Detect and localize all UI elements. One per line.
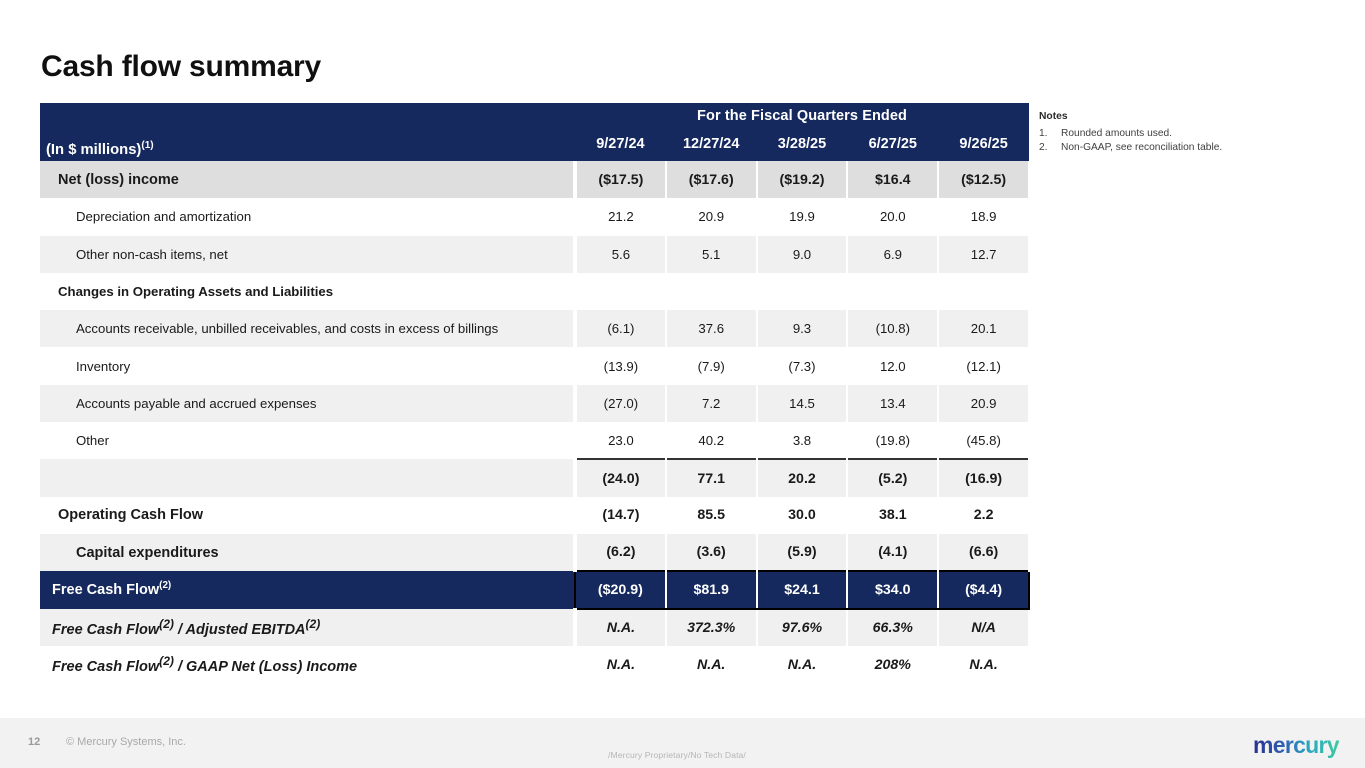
table-row: Accounts payable and accrued expenses(27… (40, 385, 1029, 422)
row-label: Capital expenditures (40, 534, 575, 571)
cash-flow-table: (In $ millions)(1) For the Fiscal Quarte… (40, 103, 1030, 683)
table-cell: 38.1 (847, 497, 938, 534)
table-cell: 97.6% (757, 609, 848, 646)
table-header-group-row: (In $ millions)(1) For the Fiscal Quarte… (40, 103, 1029, 129)
table-cell: 66.3% (847, 609, 938, 646)
table-cell: (12.1) (938, 347, 1029, 384)
table-row: Accounts receivable, unbilled receivable… (40, 310, 1029, 347)
table-row: Free Cash Flow(2) / Adjusted EBITDA(2)N.… (40, 609, 1029, 646)
table-cell: (45.8) (938, 422, 1029, 459)
mercury-logo: mercury (1253, 732, 1339, 759)
column-header-q3: 3/28/25 (757, 129, 848, 161)
table-cell: 23.0 (575, 422, 666, 459)
table-cell: ($20.9) (575, 571, 666, 608)
unit-label-cell: (In $ millions)(1) (40, 103, 575, 161)
table-cell: (5.2) (847, 459, 938, 496)
table-cell: $81.9 (666, 571, 757, 608)
note-index-1: 1. (1039, 127, 1061, 141)
table-cell: 5.1 (666, 236, 757, 273)
table-cell: $16.4 (847, 161, 938, 198)
table-header: (In $ millions)(1) For the Fiscal Quarte… (40, 103, 1029, 161)
table-cell: 85.5 (666, 497, 757, 534)
table-cell: (19.8) (847, 422, 938, 459)
row-label: Changes in Operating Assets and Liabilit… (40, 273, 575, 310)
table-row: Depreciation and amortization21.220.919.… (40, 198, 1029, 235)
note-text-2: Non-GAAP, see reconciliation table. (1061, 141, 1239, 155)
row-label: Operating Cash Flow (40, 497, 575, 534)
table-row: Inventory(13.9)(7.9)(7.3)12.0(12.1) (40, 347, 1029, 384)
row-label: Accounts payable and accrued expenses (40, 385, 575, 422)
table-cell (575, 273, 666, 310)
row-label: Other non-cash items, net (40, 236, 575, 273)
table-cell: (13.9) (575, 347, 666, 384)
column-header-q5: 9/26/25 (938, 129, 1029, 161)
table-row: (24.0)77.120.2(5.2)(16.9) (40, 459, 1029, 496)
table-cell: 13.4 (847, 385, 938, 422)
table-cell: (6.6) (938, 534, 1029, 571)
table-cell: 30.0 (757, 497, 848, 534)
table-row: Changes in Operating Assets and Liabilit… (40, 273, 1029, 310)
fiscal-quarters-header: For the Fiscal Quarters Ended (575, 103, 1029, 129)
table-cell: 9.0 (757, 236, 848, 273)
table-cell: 12.7 (938, 236, 1029, 273)
table-cell: (5.9) (757, 534, 848, 571)
note-text-1: Rounded amounts used. (1061, 127, 1239, 141)
table-row: Other non-cash items, net5.65.19.06.912.… (40, 236, 1029, 273)
row-label-superscript: (2) (159, 580, 171, 591)
table-cell: (7.3) (757, 347, 848, 384)
table-cell: ($17.6) (666, 161, 757, 198)
table-cell: ($12.5) (938, 161, 1029, 198)
proprietary-marking: /Mercury Proprietary/No Tech Data/ (608, 750, 746, 760)
copyright-text: © Mercury Systems, Inc. (66, 736, 186, 748)
column-header-q2: 12/27/24 (666, 129, 757, 161)
table-cell: (24.0) (575, 459, 666, 496)
row-label: Free Cash Flow(2) (40, 571, 575, 608)
table-cell: ($19.2) (757, 161, 848, 198)
table-cell: (7.9) (666, 347, 757, 384)
table-cell: 12.0 (847, 347, 938, 384)
column-header-q4: 6/27/25 (847, 129, 938, 161)
note-item-1: 1. Rounded amounts used. (1039, 127, 1239, 141)
table-cell: 40.2 (666, 422, 757, 459)
table-cell: 3.8 (757, 422, 848, 459)
table-cell: 20.1 (938, 310, 1029, 347)
table-cell: (3.6) (666, 534, 757, 571)
table-cell: 14.5 (757, 385, 848, 422)
table-cell: 37.6 (666, 310, 757, 347)
table-cell: 372.3% (666, 609, 757, 646)
notes-title: Notes (1039, 110, 1239, 125)
row-label: Net (loss) income (40, 161, 575, 198)
table-cell: (6.1) (575, 310, 666, 347)
table-cell: 21.2 (575, 198, 666, 235)
table-cell: 2.2 (938, 497, 1029, 534)
unit-label: (In $ millions) (46, 142, 141, 158)
unit-superscript: (1) (141, 140, 153, 151)
table-row: Net (loss) income($17.5)($17.6)($19.2)$1… (40, 161, 1029, 198)
table-row: Capital expenditures(6.2)(3.6)(5.9)(4.1)… (40, 534, 1029, 571)
table-cell (757, 273, 848, 310)
table-row: Free Cash Flow(2)($20.9)$81.9$24.1$34.0(… (40, 571, 1029, 608)
table-cell: (4.1) (847, 534, 938, 571)
table-cell: N.A. (575, 646, 666, 683)
row-label (40, 459, 575, 496)
table-body: Net (loss) income($17.5)($17.6)($19.2)$1… (40, 161, 1029, 683)
table-cell: ($4.4) (938, 571, 1029, 608)
note-index-2: 2. (1039, 141, 1061, 155)
table-cell: 19.9 (757, 198, 848, 235)
table-cell: (16.9) (938, 459, 1029, 496)
page-number: 12 (28, 736, 40, 748)
row-label: Free Cash Flow(2) / Adjusted EBITDA(2) (40, 609, 575, 646)
table-cell: 5.6 (575, 236, 666, 273)
row-label: Accounts receivable, unbilled receivable… (40, 310, 575, 347)
table-cell: N.A. (757, 646, 848, 683)
row-label: Inventory (40, 347, 575, 384)
table-cell (938, 273, 1029, 310)
note-item-2: 2. Non-GAAP, see reconciliation table. (1039, 141, 1239, 155)
row-label: Other (40, 422, 575, 459)
table-cell: 20.9 (666, 198, 757, 235)
table-cell (847, 273, 938, 310)
table-row: Free Cash Flow(2) / GAAP Net (Loss) Inco… (40, 646, 1029, 683)
column-header-q1: 9/27/24 (575, 129, 666, 161)
table-cell: 9.3 (757, 310, 848, 347)
footer-band (0, 718, 1365, 768)
table-cell: $24.1 (757, 571, 848, 608)
table-cell: 7.2 (666, 385, 757, 422)
table-cell: 20.9 (938, 385, 1029, 422)
table-cell: 208% (847, 646, 938, 683)
table-cell: (10.8) (847, 310, 938, 347)
table-cell: N.A. (666, 646, 757, 683)
table-cell: N.A. (575, 609, 666, 646)
table-cell: 18.9 (938, 198, 1029, 235)
table-cell: 20.2 (757, 459, 848, 496)
table-cell: (27.0) (575, 385, 666, 422)
table-cell: $34.0 (847, 571, 938, 608)
row-label: Depreciation and amortization (40, 198, 575, 235)
table-row: Other23.040.23.8(19.8)(45.8) (40, 422, 1029, 459)
table-cell: (6.2) (575, 534, 666, 571)
table-cell: N/A (938, 609, 1029, 646)
table-cell: ($17.5) (575, 161, 666, 198)
row-label: Free Cash Flow(2) / GAAP Net (Loss) Inco… (40, 646, 575, 683)
table-row: Operating Cash Flow(14.7)85.530.038.12.2 (40, 497, 1029, 534)
table-cell: 20.0 (847, 198, 938, 235)
table-cell (666, 273, 757, 310)
table-cell: N.A. (938, 646, 1029, 683)
table-cell: 6.9 (847, 236, 938, 273)
page-title: Cash flow summary (41, 50, 321, 83)
table-cell: (14.7) (575, 497, 666, 534)
notes-block: Notes 1. Rounded amounts used. 2. Non-GA… (1039, 110, 1239, 156)
table-cell: 77.1 (666, 459, 757, 496)
